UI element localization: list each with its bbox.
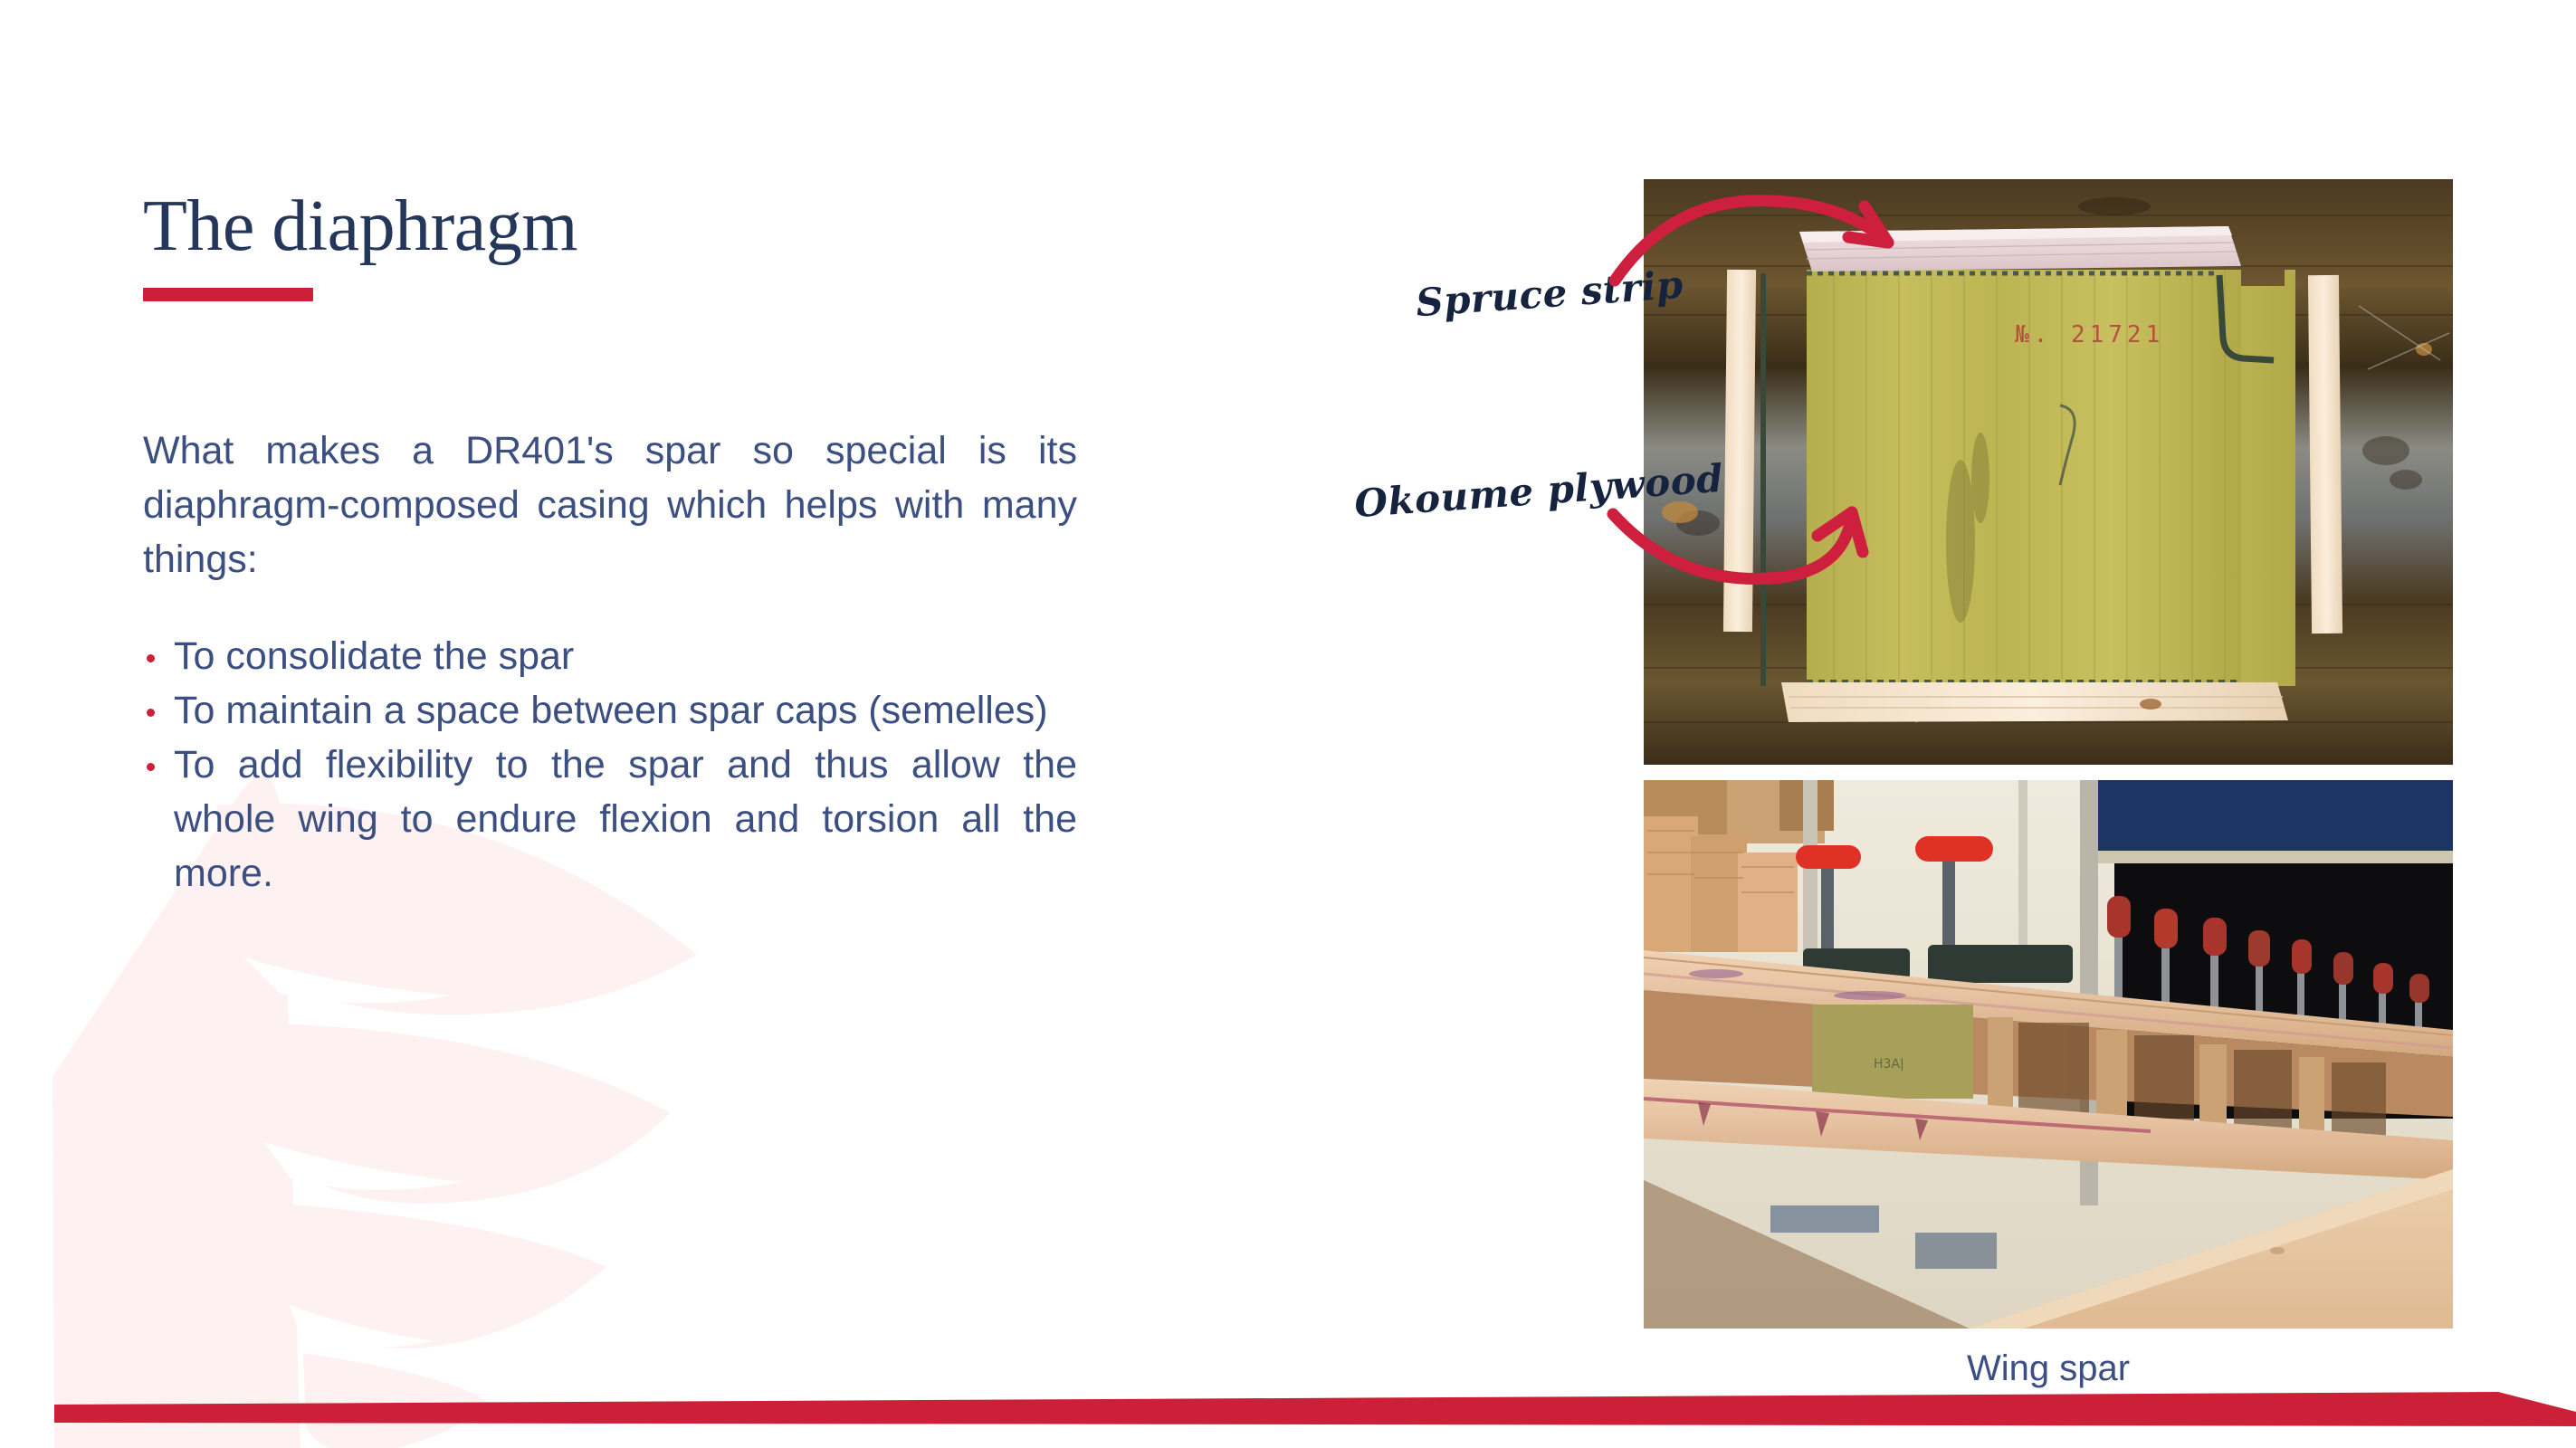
photo-caption: Wing spar <box>1644 1348 2453 1389</box>
list-item: To add flexibility to the spar and thus … <box>143 738 1077 901</box>
body-content: What makes a DR401's spar so special is … <box>143 424 1077 901</box>
svg-text:№. 21721: №. 21721 <box>2015 321 2164 348</box>
list-item: To consolidate the spar <box>143 629 1077 683</box>
list-item: To maintain a space between spar caps (s… <box>143 683 1077 738</box>
title-block: The diaphragm <box>143 190 1139 301</box>
benefits-list: To consolidate the spar To maintain a sp… <box>143 629 1077 901</box>
bottom-accent-bar <box>0 1385 2576 1448</box>
intro-paragraph: What makes a DR401's spar so special is … <box>143 424 1077 587</box>
title-underline-rule <box>143 288 313 301</box>
svg-text:H3A|: H3A| <box>1874 1057 1904 1072</box>
diaphragm-panel-photo: №. 21721 <box>1644 179 2453 765</box>
wing-spar-photo: H3A| <box>1644 780 2453 1329</box>
slide: The diaphragm What makes a DR401's spar … <box>0 0 2576 1448</box>
page-title: The diaphragm <box>143 190 1139 262</box>
